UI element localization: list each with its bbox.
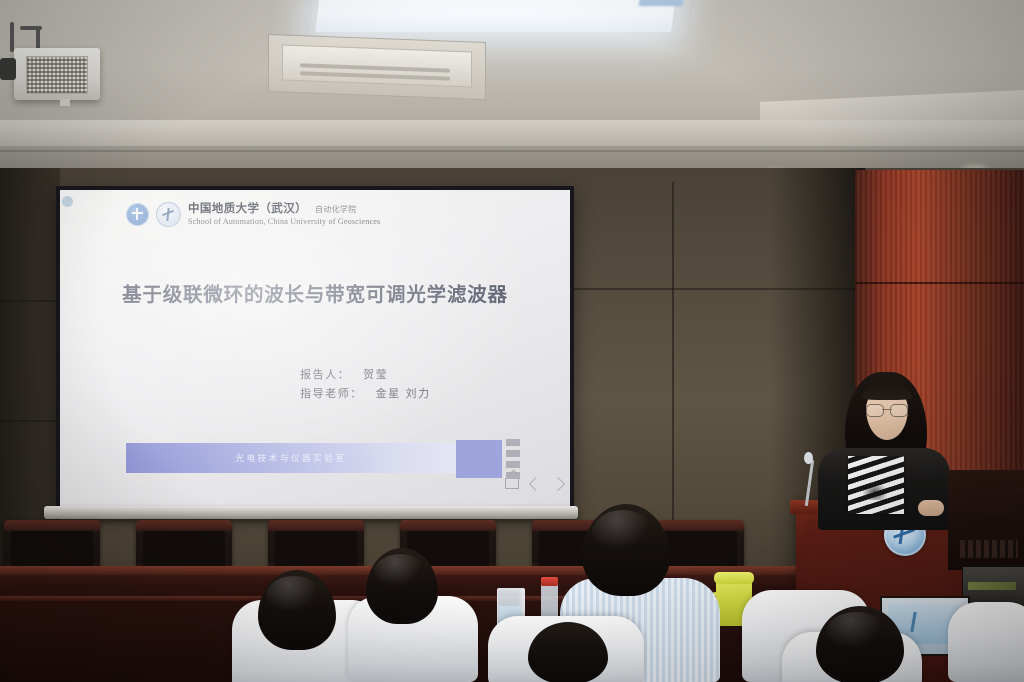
bottle-cap	[541, 577, 558, 586]
wall-seam	[0, 420, 60, 422]
advisor-label: 指导老师：	[300, 388, 363, 400]
lab-name: 光电技术与仪器实验室	[235, 452, 346, 464]
presenter-hand	[918, 500, 944, 516]
presenter-name: 贺莹	[363, 369, 388, 381]
school-logo-ring-icon	[156, 202, 181, 227]
thermos-cap	[714, 572, 754, 584]
wall-seam	[672, 182, 674, 572]
ceiling-soffit	[0, 120, 1024, 147]
slide-navigation-controls[interactable]	[505, 478, 563, 489]
presenter-sweater-graphic	[848, 456, 904, 514]
university-name-en: School of Automation, China University o…	[188, 217, 380, 227]
department-name-cn: 自动化学院	[315, 205, 357, 215]
hair-highlight	[374, 554, 426, 590]
screen-corner-marker	[62, 196, 73, 207]
projector-lens	[0, 58, 16, 80]
projection-screen[interactable]: 中国地质大学（武汉） 自动化学院 School of Automation, C…	[56, 186, 574, 512]
advisor-names: 金星 刘力	[376, 388, 431, 400]
slide-footer-banner: 光电技术与仪器实验室	[126, 443, 456, 473]
slide-title: 基于级联微环的波长与带宽可调光学滤波器	[120, 282, 510, 310]
wood-panel-seam	[855, 282, 1024, 284]
wall-seam	[0, 300, 60, 302]
ceiling-seam	[0, 150, 1024, 152]
chevron-right-icon[interactable]	[551, 476, 565, 490]
screen-roller-bar	[44, 506, 578, 519]
banner-chip	[506, 450, 520, 457]
university-name-cn: 中国地质大学（武汉）	[188, 202, 307, 216]
hair-highlight	[826, 612, 886, 652]
control-panel-keys[interactable]	[960, 540, 1018, 558]
presenter-label: 报告人：	[300, 369, 350, 381]
chevron-left-icon[interactable]	[529, 476, 543, 490]
university-logo-blue-icon	[126, 203, 149, 226]
banner-accent-square	[456, 440, 502, 478]
side-monitor-readout	[968, 582, 1016, 590]
conference-room-scene: 中国地质大学（武汉） 自动化学院 School of Automation, C…	[0, 0, 1024, 682]
slide-header: 中国地质大学（武汉） 自动化学院 School of Automation, C…	[126, 202, 380, 227]
banner-chip	[506, 461, 520, 468]
slide-credits: 报告人： 贺莹 指导老师： 金星 刘力	[300, 366, 431, 405]
projector-foot	[60, 99, 70, 106]
chair-cover	[948, 602, 1024, 682]
hair-highlight	[592, 510, 654, 554]
microphone-head	[804, 452, 813, 464]
banner-chip	[506, 439, 520, 446]
light-panel-tint	[639, 0, 686, 6]
eyeglasses-icon	[866, 404, 908, 415]
projected-slide: 中国地质大学（武汉） 自动化学院 School of Automation, C…	[60, 190, 570, 508]
university-name-block: 中国地质大学（武汉） 自动化学院 School of Automation, C…	[188, 202, 380, 226]
hair-highlight	[266, 576, 322, 616]
projector-vent	[26, 56, 88, 94]
fluorescent-light-panel-icon	[315, 0, 677, 32]
share-icon[interactable]	[505, 478, 519, 489]
